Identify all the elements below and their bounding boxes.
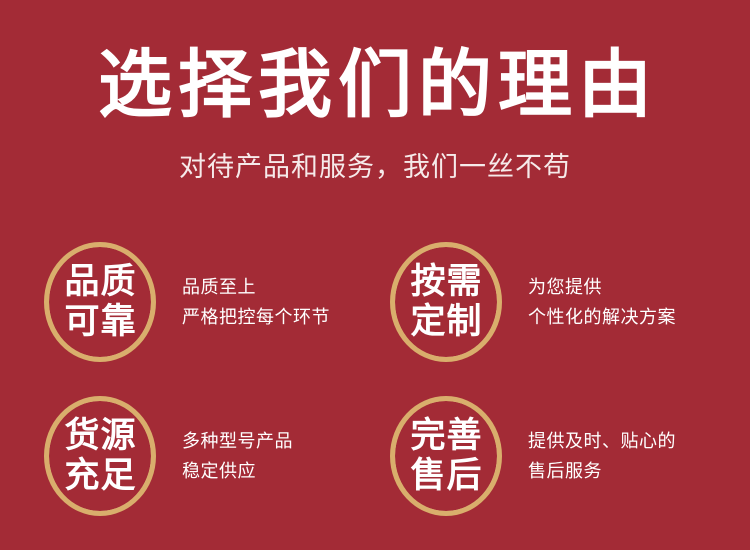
promo-poster: 选择我们的理由 对待产品和服务，我们一丝不苟 品质 可靠 品质至上 严格把控每个… xyxy=(0,0,750,550)
description-line1: 提供及时、贴心的 xyxy=(528,426,750,456)
description-line2: 个性化的解决方案 xyxy=(528,302,750,332)
badge-label-line1: 品质 xyxy=(63,262,136,302)
badge-ring-customization: 按需 定制 xyxy=(390,242,502,362)
description-line1: 品质至上 xyxy=(182,272,404,302)
feature-item-supply: 货源 充足 多种型号产品 稳定供应 xyxy=(44,386,404,526)
page-title: 选择我们的理由 xyxy=(0,42,750,128)
badge-ring-supply: 货源 充足 xyxy=(44,396,156,516)
feature-grid: 品质 可靠 品质至上 严格把控每个环节 按需 定制 为您提供 个性化的解决方案 … xyxy=(0,228,750,528)
feature-item-after-sales: 完善 售后 提供及时、贴心的 售后服务 xyxy=(390,386,750,526)
description-line2: 稳定供应 xyxy=(182,456,404,486)
badge-label-line1: 货源 xyxy=(63,416,136,456)
description-line2: 售后服务 xyxy=(528,456,750,486)
description-line1: 为您提供 xyxy=(528,272,750,302)
feature-description-customization: 为您提供 个性化的解决方案 xyxy=(528,272,750,332)
feature-item-quality: 品质 可靠 品质至上 严格把控每个环节 xyxy=(44,232,404,372)
badge-label-line1: 完善 xyxy=(409,416,482,456)
badge-ring-after-sales: 完善 售后 xyxy=(390,396,502,516)
feature-item-customization: 按需 定制 为您提供 个性化的解决方案 xyxy=(390,232,750,372)
badge-label-line2: 定制 xyxy=(409,302,482,342)
feature-description-supply: 多种型号产品 稳定供应 xyxy=(182,426,404,486)
badge-label-line2: 充足 xyxy=(63,456,136,496)
description-line1: 多种型号产品 xyxy=(182,426,404,456)
page-subtitle: 对待产品和服务，我们一丝不苟 xyxy=(0,148,750,186)
badge-label-line2: 售后 xyxy=(409,456,482,496)
description-line2: 严格把控每个环节 xyxy=(182,302,404,332)
badge-label-line1: 按需 xyxy=(409,262,482,302)
badge-ring-quality: 品质 可靠 xyxy=(44,242,156,362)
feature-description-after-sales: 提供及时、贴心的 售后服务 xyxy=(528,426,750,486)
feature-description-quality: 品质至上 严格把控每个环节 xyxy=(182,272,404,332)
badge-label-line2: 可靠 xyxy=(63,302,136,342)
